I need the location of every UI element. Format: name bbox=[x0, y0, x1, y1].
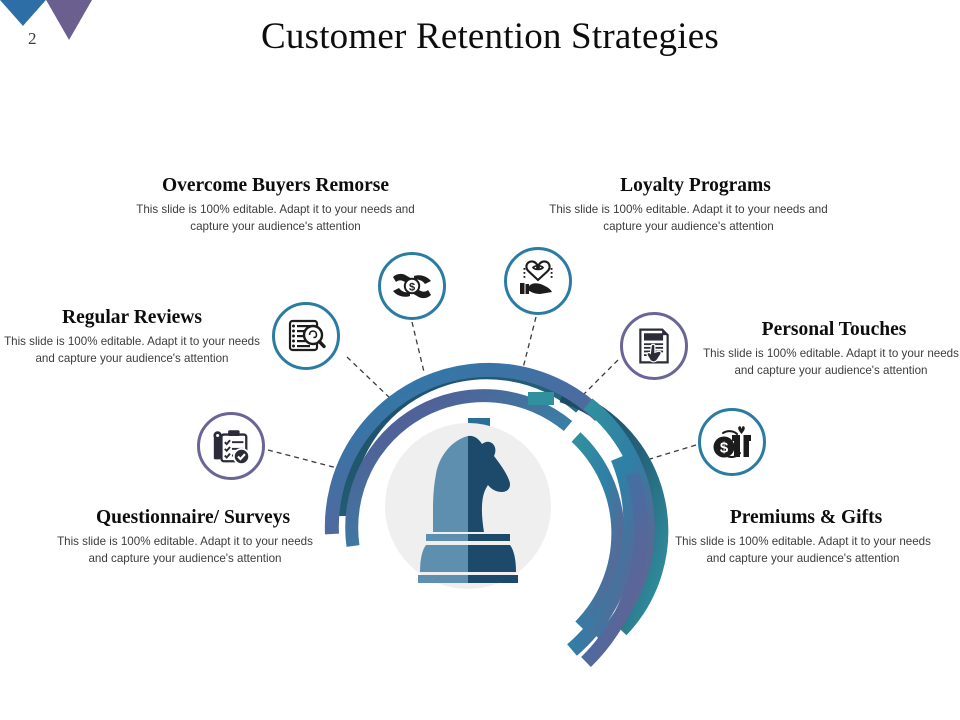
brand-logo bbox=[0, 0, 92, 48]
central-arc-graphic bbox=[300, 340, 670, 670]
clipboard-checklist-icon bbox=[210, 425, 252, 467]
callout-premiums-gifts: Premiums & Gifts This slide is 100% edit… bbox=[664, 506, 942, 567]
callout-title: Personal Touches bbox=[700, 318, 960, 341]
slide-canvas: 2 Customer Retention Strategies bbox=[0, 0, 960, 720]
callout-regular-reviews: Regular Reviews This slide is 100% edita… bbox=[0, 306, 266, 367]
callout-title: Questionnaire/ Surveys bbox=[50, 506, 320, 529]
icon-node-loyalty-programs[interactable] bbox=[504, 247, 572, 315]
callout-body: This slide is 100% editable. Adapt it to… bbox=[128, 202, 423, 235]
page-title: Customer Retention Strategies bbox=[150, 16, 830, 59]
document-hand-sign-icon bbox=[634, 326, 674, 366]
callout-body: This slide is 100% editable. Adapt it to… bbox=[0, 334, 266, 367]
icon-node-questionnaire-surveys[interactable] bbox=[197, 412, 265, 480]
callout-loyalty-programs: Loyalty Programs This slide is 100% edit… bbox=[546, 174, 831, 235]
callout-overcome-buyers-remorse: Overcome Buyers Remorse This slide is 10… bbox=[128, 174, 423, 235]
callout-body: This slide is 100% editable. Adapt it to… bbox=[50, 534, 320, 567]
callout-title: Loyalty Programs bbox=[546, 174, 831, 197]
gift-money-icon: $ bbox=[710, 420, 754, 464]
icon-node-personal-touches[interactable] bbox=[620, 312, 688, 380]
callout-personal-touches: Personal Touches This slide is 100% edit… bbox=[700, 318, 960, 379]
callout-body: This slide is 100% editable. Adapt it to… bbox=[664, 534, 942, 567]
slide-number: 2 bbox=[28, 30, 37, 47]
callout-title: Regular Reviews bbox=[0, 306, 266, 329]
icon-node-premiums-gifts[interactable]: $ bbox=[698, 408, 766, 476]
callout-title: Overcome Buyers Remorse bbox=[128, 174, 423, 197]
callout-body: This slide is 100% editable. Adapt it to… bbox=[546, 202, 831, 235]
arc-notch-top bbox=[528, 392, 554, 405]
icon-node-regular-reviews[interactable] bbox=[272, 302, 340, 370]
svg-text:$: $ bbox=[409, 281, 415, 293]
document-magnifier-icon bbox=[284, 314, 328, 358]
callout-questionnaire-surveys: Questionnaire/ Surveys This slide is 100… bbox=[50, 506, 320, 567]
callout-body: This slide is 100% editable. Adapt it to… bbox=[700, 346, 960, 379]
hands-exchange-money-icon: $ bbox=[390, 264, 434, 308]
svg-text:$: $ bbox=[720, 440, 729, 457]
callout-title: Premiums & Gifts bbox=[664, 506, 942, 529]
icon-node-overcome-buyers-remorse[interactable]: $ bbox=[378, 252, 446, 320]
hand-heart-eye-icon bbox=[516, 259, 560, 303]
